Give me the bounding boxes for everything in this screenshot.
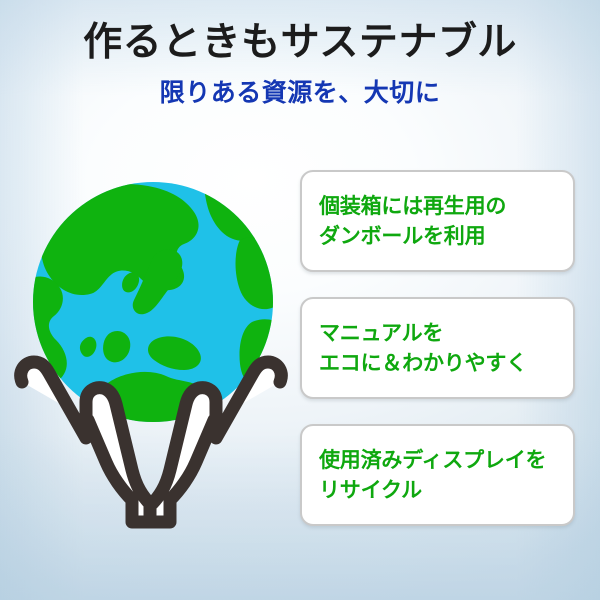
callout-manual-eco: マニュアルを エコに＆わかりやすく	[300, 297, 575, 399]
callout-list: 個装箱には再生用の ダンボールを利用 マニュアルを エコに＆わかりやすく 使用済…	[300, 170, 575, 526]
sustainability-banner: 作るときもサステナブル 限りある資源を、大切に	[0, 0, 600, 600]
hands-holding-earth-illustration	[8, 170, 293, 535]
banner-headings: 作るときもサステナブル 限りある資源を、大切に	[0, 0, 600, 108]
callout-line: リサイクル	[319, 476, 557, 506]
page-subtitle: 限りある資源を、大切に	[0, 66, 600, 108]
callout-line: ダンボールを利用	[319, 222, 557, 252]
callout-line: エコに＆わかりやすく	[319, 349, 557, 379]
callout-line: 個装箱には再生用の	[319, 192, 557, 222]
globe-icon	[11, 178, 294, 439]
callout-line: マニュアルを	[319, 319, 557, 349]
callout-line: 使用済みディスプレイを	[319, 446, 557, 476]
callout-display-recycle: 使用済みディスプレイを リサイクル	[300, 424, 575, 526]
page-title: 作るときもサステナブル	[0, 0, 600, 66]
callout-packaging-box: 個装箱には再生用の ダンボールを利用	[300, 170, 575, 272]
